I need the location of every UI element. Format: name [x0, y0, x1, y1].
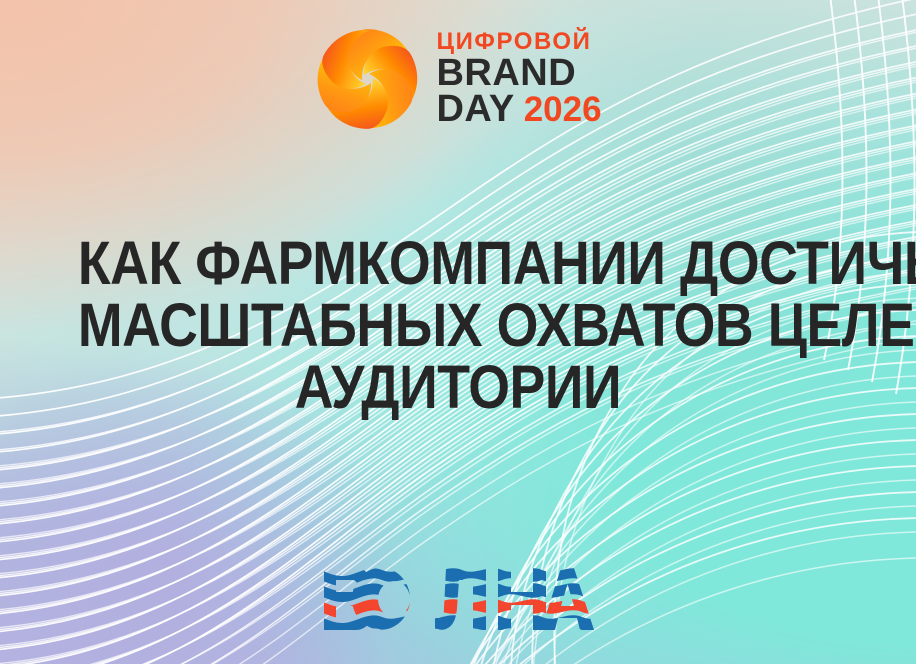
volna-letters — [322, 568, 594, 630]
brand-day-year-row: DAY 2026 — [436, 92, 601, 128]
cbd-ring-logo-icon — [314, 26, 420, 132]
brand-day: DAY — [436, 92, 514, 128]
page-title-line-1: КАК ФАРМКОМПАНИИ ДОСТИЧЬ — [78, 232, 838, 294]
page-title: КАК ФАРМКОМПАНИИ ДОСТИЧЬ МАСШТАБНЫХ ОХВА… — [0, 232, 916, 419]
brand-name: BRAND — [436, 56, 601, 92]
page-title-line-3: АУДИТОРИИ — [78, 356, 838, 418]
title-slide: ЦИФРОВОЙ BRAND DAY 2026 КАК ФАРМКОМПАНИИ… — [0, 0, 916, 664]
brand-year: 2026 — [524, 94, 602, 127]
brand-wordmark: ЦИФРОВОЙ BRAND DAY 2026 — [436, 31, 601, 128]
volna-wave-logo — [322, 568, 594, 630]
brand-lockup: ЦИФРОВОЙ BRAND DAY 2026 — [314, 26, 601, 132]
brand-tagline: ЦИФРОВОЙ — [436, 31, 601, 54]
logo-petals — [314, 26, 420, 132]
page-title-line-2: МАСШТАБНЫХ ОХВАТОВ ЦЕЛЕВОЙ — [78, 294, 838, 356]
